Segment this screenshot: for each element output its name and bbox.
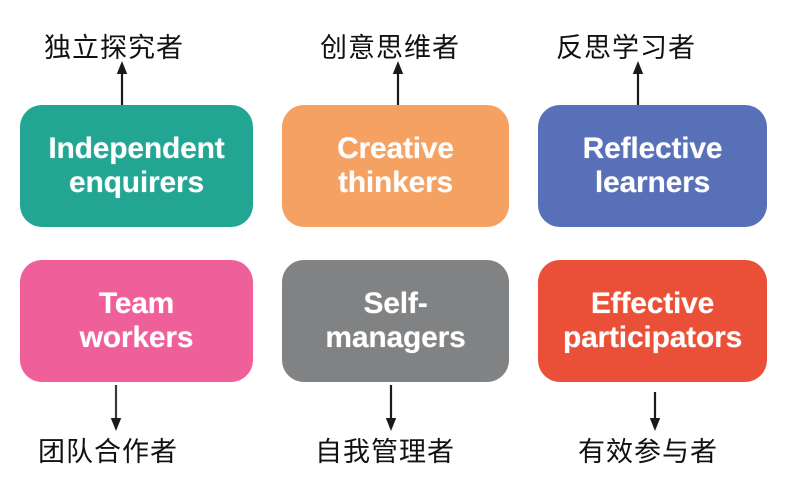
caption-creative-thinkers: 创意思维者	[320, 26, 460, 65]
caption-reflective-learners: 反思学习者	[556, 26, 696, 65]
arrow-up-creative-thinkers	[390, 61, 406, 107]
box-label-effective-participators: Effective participators	[563, 287, 742, 354]
box-label-team-workers: Team workers	[80, 287, 194, 354]
arrow-down-effective-participators	[647, 392, 663, 431]
arrow-up-reflective-learners	[630, 61, 646, 107]
caption-effective-participators: 有效参与者	[578, 430, 718, 469]
caption-team-workers: 团队合作者	[38, 430, 178, 469]
arrow-down-self-managers	[383, 385, 399, 431]
box-creative-thinkers[interactable]: Creative thinkers	[282, 105, 509, 227]
box-team-workers[interactable]: Team workers	[20, 260, 253, 382]
caption-independent-enquirers: 独立探究者	[44, 26, 184, 65]
box-label-self-managers: Self- managers	[325, 287, 465, 354]
arrow-up-independent-enquirers	[114, 61, 130, 107]
box-label-reflective-learners: Reflective learners	[583, 132, 723, 199]
box-effective-participators[interactable]: Effective participators	[538, 260, 767, 382]
box-label-independent-enquirers: Independent enquirers	[48, 132, 224, 199]
box-independent-enquirers[interactable]: Independent enquirers	[20, 105, 253, 227]
diagram-canvas: 独立探究者 创意思维者 反思学习者 Independent enquirers …	[0, 0, 800, 486]
box-label-creative-thinkers: Creative thinkers	[337, 132, 454, 199]
box-reflective-learners[interactable]: Reflective learners	[538, 105, 767, 227]
box-self-managers[interactable]: Self- managers	[282, 260, 509, 382]
caption-self-managers: 自我管理者	[315, 430, 455, 469]
arrow-down-team-workers	[108, 385, 124, 431]
